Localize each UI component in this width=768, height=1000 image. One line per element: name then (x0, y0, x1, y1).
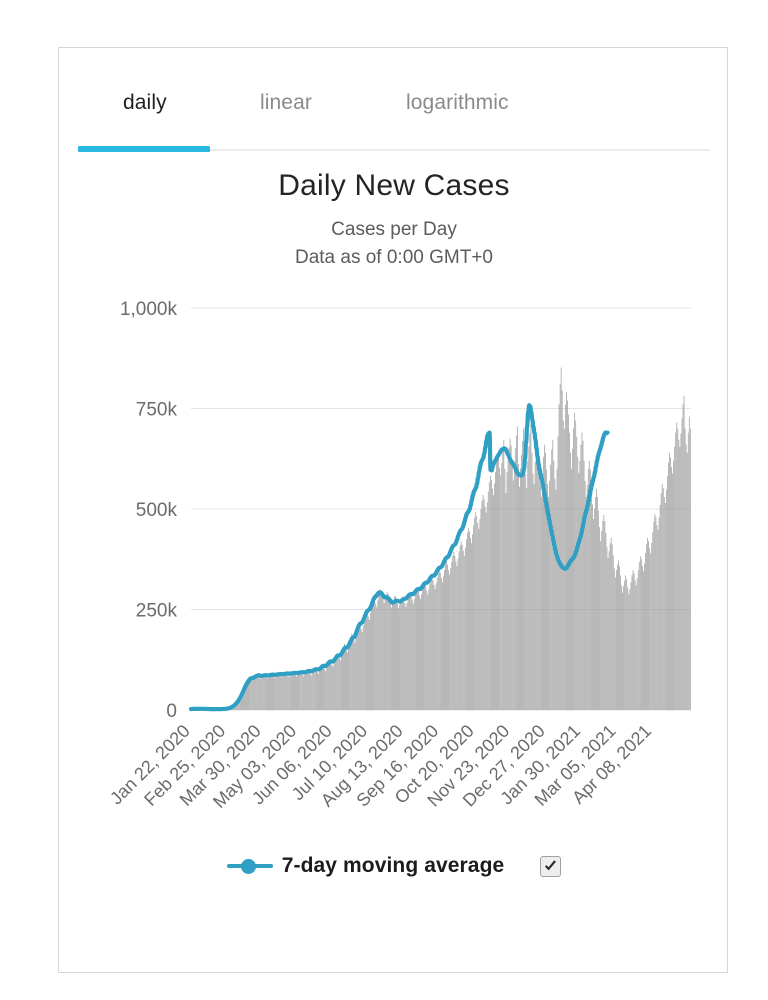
bar (541, 497, 542, 710)
bar (530, 433, 531, 710)
bar (210, 709, 211, 710)
chart-subtitle: Cases per Day Data as of 0:00 GMT+0 (59, 216, 729, 271)
bar (320, 668, 321, 710)
bar (355, 643, 356, 710)
x-axis-tick-label: Aug 13, 2020 (317, 721, 407, 811)
bar (261, 677, 262, 710)
bar (291, 673, 292, 710)
bar (386, 594, 387, 710)
bar (285, 672, 286, 710)
bar (277, 673, 278, 710)
bar (610, 543, 611, 710)
bar (192, 709, 193, 710)
bar (569, 433, 570, 710)
bar (594, 509, 595, 710)
x-axis-tick-label: Oct 20, 2020 (391, 721, 478, 808)
bar (486, 513, 487, 710)
bar (358, 626, 359, 710)
bar (643, 571, 644, 710)
chart-subtitle-line2: Data as of 0:00 GMT+0 (59, 244, 729, 272)
bar (595, 497, 596, 710)
bar (375, 603, 376, 710)
bar (329, 662, 330, 710)
bar (219, 709, 220, 710)
bar (655, 514, 656, 710)
bar (213, 709, 214, 710)
bar (506, 493, 507, 710)
bar (656, 517, 657, 710)
bar (664, 497, 665, 710)
bar (385, 598, 386, 710)
bar (238, 699, 239, 710)
bar (196, 709, 197, 710)
x-axis-tick-label: May 03, 2020 (209, 721, 300, 812)
bar (317, 672, 318, 710)
bar (577, 457, 578, 710)
bar (233, 706, 234, 710)
x-axis-tick-label: Feb 25, 2020 (140, 721, 229, 810)
bar (334, 663, 335, 710)
bar (588, 469, 589, 710)
bar (444, 570, 445, 710)
bar (418, 591, 419, 710)
bar (570, 453, 571, 710)
bar (484, 499, 485, 710)
bar (332, 665, 333, 710)
bar (244, 685, 245, 710)
bar (232, 706, 233, 710)
bar (498, 459, 499, 710)
bar (668, 463, 669, 710)
bar (638, 570, 639, 710)
bar (675, 433, 676, 710)
bar (687, 453, 688, 710)
bar (523, 429, 524, 710)
bar (397, 604, 398, 710)
bar (240, 695, 241, 710)
bar (659, 518, 660, 710)
bar (283, 675, 284, 710)
x-axis-tick-label: Apr 08, 2021 (568, 721, 655, 808)
bar (512, 466, 513, 710)
bar (225, 709, 226, 710)
bar (465, 548, 466, 710)
bar (505, 469, 506, 710)
bar (442, 582, 443, 710)
bar (276, 674, 277, 710)
bar (566, 392, 567, 710)
bar (321, 666, 322, 710)
bar (191, 709, 192, 710)
bar (246, 681, 247, 710)
bar (377, 601, 378, 710)
x-axis-tick-label: Mar 30, 2020 (176, 721, 265, 810)
bar (637, 578, 638, 710)
bar (266, 676, 267, 710)
bar (526, 488, 527, 710)
bar (489, 482, 490, 710)
bar (275, 676, 276, 710)
bar (309, 671, 310, 710)
bar (604, 515, 605, 710)
bar (265, 674, 266, 710)
bar (458, 559, 459, 710)
legend-line-marker-icon (227, 857, 273, 875)
bar (234, 705, 235, 710)
bar (535, 462, 536, 710)
x-axis-tick-label: Mar 05, 2021 (531, 721, 620, 810)
bar (336, 655, 337, 710)
bar (242, 690, 243, 710)
bar (409, 595, 410, 710)
bar (469, 532, 470, 710)
bar (633, 570, 634, 710)
bar (679, 440, 680, 710)
bar (544, 445, 545, 710)
chart-header: Daily New Cases Cases per Day Data as of… (59, 168, 729, 271)
bar (330, 660, 331, 710)
bar (287, 673, 288, 710)
bar (381, 589, 382, 710)
chart-card: daily linear logarithmic Daily New Cases… (58, 47, 728, 973)
bar (267, 679, 268, 710)
bar (599, 527, 600, 710)
bar (357, 631, 358, 710)
bar (382, 593, 383, 710)
bar (236, 702, 237, 710)
bar (200, 709, 201, 710)
bar (435, 589, 436, 710)
bar (481, 509, 482, 710)
bar (550, 465, 551, 710)
bar (206, 709, 207, 710)
checkmark-icon (543, 859, 558, 874)
bar (443, 576, 444, 710)
bar (571, 469, 572, 710)
bar (406, 607, 407, 710)
bar (426, 591, 427, 710)
bar (249, 677, 250, 710)
bar (684, 396, 685, 710)
bar (471, 543, 472, 710)
bar (665, 503, 666, 710)
bar (400, 601, 401, 710)
bar (488, 492, 489, 710)
bar (408, 599, 409, 710)
bar (493, 495, 494, 710)
bar (670, 458, 671, 710)
bar (315, 667, 316, 710)
bar (304, 676, 305, 710)
bar (305, 674, 306, 710)
bar (450, 568, 451, 710)
bar (589, 461, 590, 710)
bar (352, 636, 353, 710)
bar (337, 653, 338, 710)
bar (510, 439, 511, 710)
bar (546, 470, 547, 710)
bar (434, 585, 435, 710)
bar (227, 708, 228, 710)
bar (462, 545, 463, 710)
bar (420, 599, 421, 710)
bar (572, 449, 573, 710)
bar (255, 675, 256, 710)
bar (475, 512, 476, 710)
bar (669, 453, 670, 710)
bar (559, 404, 560, 710)
bar (416, 591, 417, 710)
bar (654, 522, 655, 710)
bar (370, 613, 371, 710)
bar (194, 709, 195, 710)
bar (602, 521, 603, 710)
bar (417, 588, 418, 710)
bar (520, 468, 521, 710)
bar (686, 445, 687, 710)
bar (300, 671, 301, 710)
bar (565, 404, 566, 710)
bar (607, 547, 608, 710)
bar (248, 678, 249, 710)
bar (525, 474, 526, 710)
bar (540, 485, 541, 710)
bar (661, 493, 662, 710)
bar (214, 709, 215, 710)
bar (672, 474, 673, 710)
bar (199, 709, 200, 710)
y-axis-tick-label: 0 (166, 701, 177, 722)
bar (573, 429, 574, 710)
bar (339, 658, 340, 710)
bar (596, 489, 597, 710)
bar (651, 543, 652, 710)
bar (532, 453, 533, 710)
bar (597, 497, 598, 710)
bar (373, 596, 374, 710)
bar (258, 675, 259, 710)
tab-linear[interactable]: linear (260, 91, 312, 115)
bar (217, 709, 218, 710)
bar (496, 462, 497, 710)
bar (645, 553, 646, 710)
bar (457, 566, 458, 710)
bar (331, 662, 332, 710)
x-axis-tick-label: Dec 27, 2020 (459, 721, 549, 811)
bar (259, 677, 260, 710)
bar (591, 485, 592, 710)
bar (243, 687, 244, 710)
bar (412, 600, 413, 710)
bar (522, 441, 523, 710)
bar (424, 583, 425, 710)
bar (402, 596, 403, 710)
bar (282, 677, 283, 710)
bar (623, 586, 624, 710)
bar (460, 546, 461, 710)
bar (592, 504, 593, 710)
bar (407, 603, 408, 710)
bar (542, 475, 543, 710)
bar (499, 468, 500, 710)
bar (622, 593, 623, 710)
bar (507, 472, 508, 710)
bar (579, 473, 580, 710)
tab-logarithmic[interactable]: logarithmic (406, 91, 509, 115)
bar (485, 507, 486, 710)
bar (629, 594, 630, 710)
bar (461, 541, 462, 710)
bar (575, 421, 576, 710)
bar (682, 419, 683, 710)
bar (394, 597, 395, 710)
bar (504, 440, 505, 710)
bar (555, 479, 556, 710)
bar (538, 447, 539, 710)
bar (226, 708, 227, 710)
bar (235, 704, 236, 710)
y-axis-tick-label: 250k (136, 601, 178, 622)
bar (681, 433, 682, 710)
bar (268, 677, 269, 710)
bar (216, 709, 217, 710)
bar (543, 457, 544, 710)
bar (547, 484, 548, 710)
bar (419, 595, 420, 710)
bar (390, 603, 391, 710)
bar (470, 538, 471, 710)
bar (663, 488, 664, 710)
bar (208, 709, 209, 710)
bar (256, 674, 257, 710)
bar (601, 531, 602, 710)
legend-label: 7-day moving average (282, 854, 505, 878)
bar (501, 463, 502, 710)
bar (576, 437, 577, 710)
bar (202, 709, 203, 710)
bar (342, 651, 343, 710)
bar (365, 614, 366, 710)
bar (452, 556, 453, 710)
bar (688, 433, 689, 710)
bar (237, 701, 238, 710)
bar (221, 709, 222, 710)
bar (563, 421, 564, 710)
bar (343, 647, 344, 710)
bar (482, 501, 483, 710)
bar (454, 552, 455, 710)
bar (205, 709, 206, 710)
bar (583, 441, 584, 710)
bar (490, 476, 491, 710)
bar (513, 480, 514, 710)
bar (201, 709, 202, 710)
bar (497, 454, 498, 710)
bar (395, 596, 396, 710)
bar (274, 678, 275, 710)
bar (593, 519, 594, 710)
bar (445, 565, 446, 710)
bar (286, 671, 287, 710)
bar (430, 584, 431, 710)
bar (404, 599, 405, 710)
bar (354, 640, 355, 710)
bar (580, 461, 581, 710)
bar (590, 470, 591, 710)
bar (639, 562, 640, 710)
bar (673, 461, 674, 710)
bar (494, 484, 495, 710)
bar (502, 451, 503, 710)
bar (476, 516, 477, 710)
bar (627, 587, 628, 710)
bar (272, 674, 273, 710)
bar (422, 589, 423, 710)
x-axis-tick-label: Jan 30, 2021 (496, 721, 584, 809)
bar (647, 538, 648, 710)
tab-daily[interactable]: daily (123, 91, 167, 115)
bar (224, 709, 225, 710)
bar (413, 603, 414, 710)
bar (220, 709, 221, 710)
bar (299, 671, 300, 710)
bar (536, 449, 537, 710)
legend-toggle-checkbox[interactable] (540, 856, 561, 877)
bar (438, 573, 439, 710)
bar (250, 676, 251, 710)
bar (608, 558, 609, 710)
bar (280, 673, 281, 710)
bar (195, 709, 196, 710)
bar (222, 709, 223, 710)
bar (437, 578, 438, 710)
bar (534, 484, 535, 710)
bar (292, 672, 293, 710)
bar (247, 679, 248, 710)
bar (207, 709, 208, 710)
bar (349, 642, 350, 710)
bar (625, 575, 626, 710)
bar (281, 675, 282, 710)
bar (495, 472, 496, 710)
bar (516, 435, 517, 710)
bar (279, 672, 280, 710)
bar (605, 521, 606, 710)
bar (552, 440, 553, 710)
chart-title: Daily New Cases (59, 168, 729, 204)
bar (197, 709, 198, 710)
bar (384, 603, 385, 710)
bar (508, 461, 509, 710)
bar (621, 585, 622, 710)
bar (624, 581, 625, 710)
bar (440, 573, 441, 710)
bar (558, 437, 559, 710)
bar (447, 564, 448, 710)
bar (448, 570, 449, 710)
bar (230, 707, 231, 710)
bar (613, 555, 614, 710)
bar (646, 544, 647, 710)
bar (539, 467, 540, 710)
bar (626, 579, 627, 710)
y-axis-tick-label: 500k (136, 500, 178, 521)
bar (273, 676, 274, 710)
bar (477, 523, 478, 710)
bar (340, 660, 341, 710)
bar (449, 575, 450, 710)
bar (414, 599, 415, 710)
